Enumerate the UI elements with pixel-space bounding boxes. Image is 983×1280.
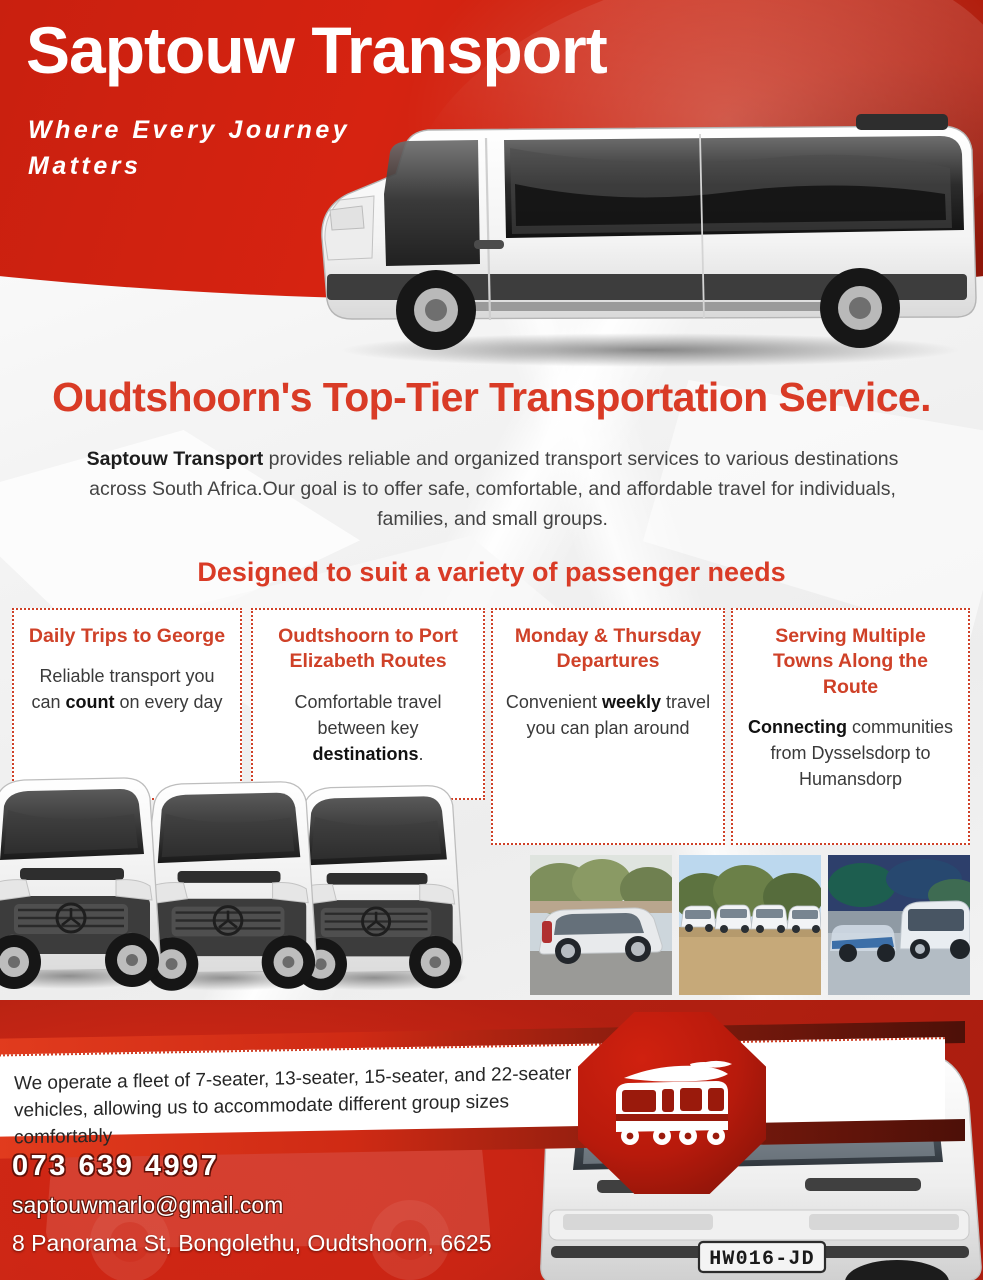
card-text-after: on every day	[114, 692, 222, 712]
minibus-with-surfboards-icon	[606, 1056, 738, 1150]
feature-card-title: Oudtshoorn to Port Elizabeth Routes	[265, 624, 471, 675]
feature-card-text: Convenient weekly travel you can plan ar…	[505, 689, 711, 741]
license-plate-text: HW016-JD	[709, 1248, 815, 1271]
intro-paragraph: Saptouw Transport provides reliable and …	[60, 444, 925, 535]
feature-card-title: Monday & Thursday Departures	[505, 624, 711, 675]
fleet-statement-band: We operate a fleet of 7-seater, 13-seate…	[0, 1022, 980, 1152]
feature-card-text: Reliable transport you can count on ever…	[26, 663, 228, 715]
photo-fleet-lineup	[679, 855, 821, 995]
photo-silver-mpv	[530, 855, 672, 995]
card-text-emphasis: Connecting	[748, 717, 847, 737]
contact-phone[interactable]: 073 639 4997	[12, 1150, 612, 1183]
feature-card-title: Serving Multiple Towns Along the Route	[745, 624, 956, 700]
photo-minibus-towing-boat	[828, 855, 970, 995]
hero-van-image	[300, 88, 983, 368]
intro-lead: Saptouw Transport	[87, 448, 264, 470]
page-headline: Oudtshoorn's Top-Tier Transportation Ser…	[0, 374, 983, 421]
fleet-row-image	[0, 768, 522, 1000]
license-plate: HW016-JD	[699, 1242, 825, 1272]
contact-address: 8 Panorama St, Bongolethu, Oudtshoorn, 6…	[12, 1230, 612, 1257]
photo-strip	[530, 855, 980, 995]
feature-card-text: Comfortable travel between key destinati…	[265, 689, 471, 767]
fleet-statement-text: We operate a fleet of 7-seater, 13-seate…	[14, 1061, 604, 1153]
card-text-emphasis: count	[65, 692, 114, 712]
card-text-after: .	[419, 744, 424, 764]
flyer-page: Saptouw Transport Where Every Journey Ma…	[0, 0, 983, 1280]
card-text-before: Convenient	[506, 692, 602, 712]
contact-block: 073 639 4997 saptouwmarlo@gmail.com 8 Pa…	[12, 1150, 612, 1257]
card-text-before: Comfortable travel between key	[294, 692, 441, 738]
contact-email[interactable]: saptouwmarlo@gmail.com	[12, 1192, 612, 1219]
feature-card: Serving Multiple Towns Along the Route C…	[731, 608, 970, 845]
feature-card: Monday & Thursday Departures Convenient …	[491, 608, 725, 845]
card-text-emphasis: weekly	[602, 692, 661, 712]
feature-card-text: Connecting communities from Dysselsdorp …	[745, 714, 956, 792]
section-subheading: Designed to suit a variety of passenger …	[0, 557, 983, 588]
brand-title: Saptouw Transport	[26, 14, 607, 87]
feature-card-title: Daily Trips to George	[26, 624, 228, 649]
card-text-emphasis: destinations	[312, 744, 418, 764]
